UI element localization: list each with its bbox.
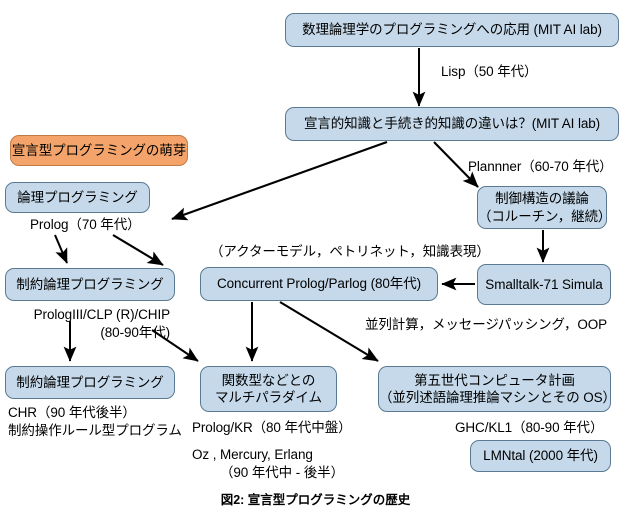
edge-label-plannner-text: Plannner（60-70 年代） xyxy=(468,159,613,174)
node-sprout[interactable]: 宣言型プログラミングの萌芽 xyxy=(10,135,188,166)
edge-label-actor-model-text: （アクターモデル，ペトリネット，知識表現） xyxy=(210,244,490,259)
edge-label-chr: CHR（90 年代後半） 制約操作ルール型プログラム xyxy=(8,404,182,440)
arrow-declarative-to-prolog xyxy=(172,142,387,219)
node-control-structure-line1: 制御構造の議論 xyxy=(495,190,589,207)
figure-caption-text: 図2: 宣言型プログラミングの歴史 xyxy=(221,493,411,507)
node-constraint-logic-programming-2[interactable]: 制約論理プログラミング xyxy=(5,366,175,399)
node-smalltalk[interactable]: Smalltalk-71 Simula xyxy=(477,264,611,305)
edge-label-oz-line1: Oz , Mercury, Erlang xyxy=(192,446,344,464)
node-math-logic[interactable]: 数理論理学のプログラミングへの応用 (MIT AI lab) xyxy=(285,13,619,47)
node-constraint-logic-programming-1[interactable]: 制約論理プログラミング xyxy=(5,268,175,301)
node-declarative-vs-procedural[interactable]: 宣言的知識と手続き的知識の違いは？(MIT AI lab) xyxy=(285,107,619,141)
node-sprout-label: 宣言型プログラミングの萌芽 xyxy=(12,142,186,159)
node-constraint-logic-programming-1-label: 制約論理プログラミング xyxy=(16,276,163,293)
node-math-logic-label: 数理論理学のプログラミングへの応用 (MIT AI lab) xyxy=(302,21,602,38)
node-multiparadigm[interactable]: 関数型などとの マルチパラダイム xyxy=(200,366,337,412)
node-smalltalk-label: Smalltalk-71 Simula xyxy=(485,276,602,293)
node-fifth-generation-line1: 第五世代コンピュータ計画 xyxy=(414,372,575,389)
edge-label-prolog3: PrologIII/CLP (R)/CHIP (80-90年代) xyxy=(0,306,170,342)
node-control-structure[interactable]: 制御構造の議論 （コルーチン，継続） xyxy=(477,186,607,229)
arrow-concurrent-prolog-to-fifth-generation xyxy=(280,302,378,361)
node-lmntal-label: LMNtal (2000 年代) xyxy=(483,447,598,464)
node-fifth-generation-line2: （並列述語論理推論マシンとその OS） xyxy=(379,389,610,406)
edge-label-prolog-text: Prolog（70 年代） xyxy=(30,217,141,232)
arrow-prolog-to-concurrent-prolog xyxy=(113,235,163,265)
node-declarative-vs-procedural-label: 宣言的知識と手続き的知識の違いは？(MIT AI lab) xyxy=(304,115,600,132)
edge-label-lisp-text: Lisp（50 年代） xyxy=(441,64,537,79)
figure-declarative-programming-history: 数理論理学のプログラミングへの応用 (MIT AI lab) 宣言的知識と手続き… xyxy=(0,0,631,515)
edge-label-chr-line1: CHR（90 年代後半） xyxy=(8,404,182,422)
node-lmntal[interactable]: LMNtal (2000 年代) xyxy=(470,440,611,472)
edge-label-oz-line2: （90 年代中 - 後半） xyxy=(192,464,344,482)
edge-label-prolog3-line2: (80-90年代) xyxy=(0,324,170,342)
figure-caption: 図2: 宣言型プログラミングの歴史 xyxy=(0,489,631,508)
edge-label-prolog-kr-text: Prolog/KR（80 年代中盤） xyxy=(192,420,352,435)
edge-label-parallel-oop-text: 並列計算，メッセージパッシング，OOP xyxy=(365,317,607,332)
edge-label-chr-line2: 制約操作ルール型プログラム xyxy=(8,422,182,440)
edge-label-actor-model: （アクターモデル，ペトリネット，知識表現） xyxy=(210,243,490,261)
edge-label-plannner: Plannner（60-70 年代） xyxy=(468,158,613,176)
edge-label-lisp: Lisp（50 年代） xyxy=(441,63,537,81)
node-logic-programming[interactable]: 論理プログラミング xyxy=(5,182,150,213)
node-concurrent-prolog[interactable]: Concurrent Prolog/Parlog (80年代) xyxy=(200,267,438,301)
edge-label-oz: Oz , Mercury, Erlang （90 年代中 - 後半） xyxy=(192,446,344,482)
edge-label-prolog-kr: Prolog/KR（80 年代中盤） xyxy=(192,419,352,437)
node-concurrent-prolog-label: Concurrent Prolog/Parlog (80年代) xyxy=(217,275,421,292)
edge-label-parallel-oop: 並列計算，メッセージパッシング，OOP xyxy=(365,316,607,334)
node-multiparadigm-line1: 関数型などとの xyxy=(222,372,316,389)
node-constraint-logic-programming-2-label: 制約論理プログラミング xyxy=(16,374,163,391)
edge-label-ghc-kl1-text: GHC/KL1（80-90 年代） xyxy=(455,420,603,435)
node-logic-programming-label: 論理プログラミング xyxy=(17,189,138,206)
edge-label-prolog3-line1: PrologIII/CLP (R)/CHIP xyxy=(0,306,170,324)
node-multiparadigm-line2: マルチパラダイム xyxy=(215,389,322,406)
edge-label-ghc-kl1: GHC/KL1（80-90 年代） xyxy=(455,419,603,437)
arrow-prolog-to-constraint-1 xyxy=(55,235,67,263)
node-control-structure-line2: （コルーチン，継続） xyxy=(478,208,606,225)
edge-label-prolog: Prolog（70 年代） xyxy=(30,216,141,234)
node-fifth-generation[interactable]: 第五世代コンピュータ計画 （並列述語論理推論マシンとその OS） xyxy=(378,366,611,412)
